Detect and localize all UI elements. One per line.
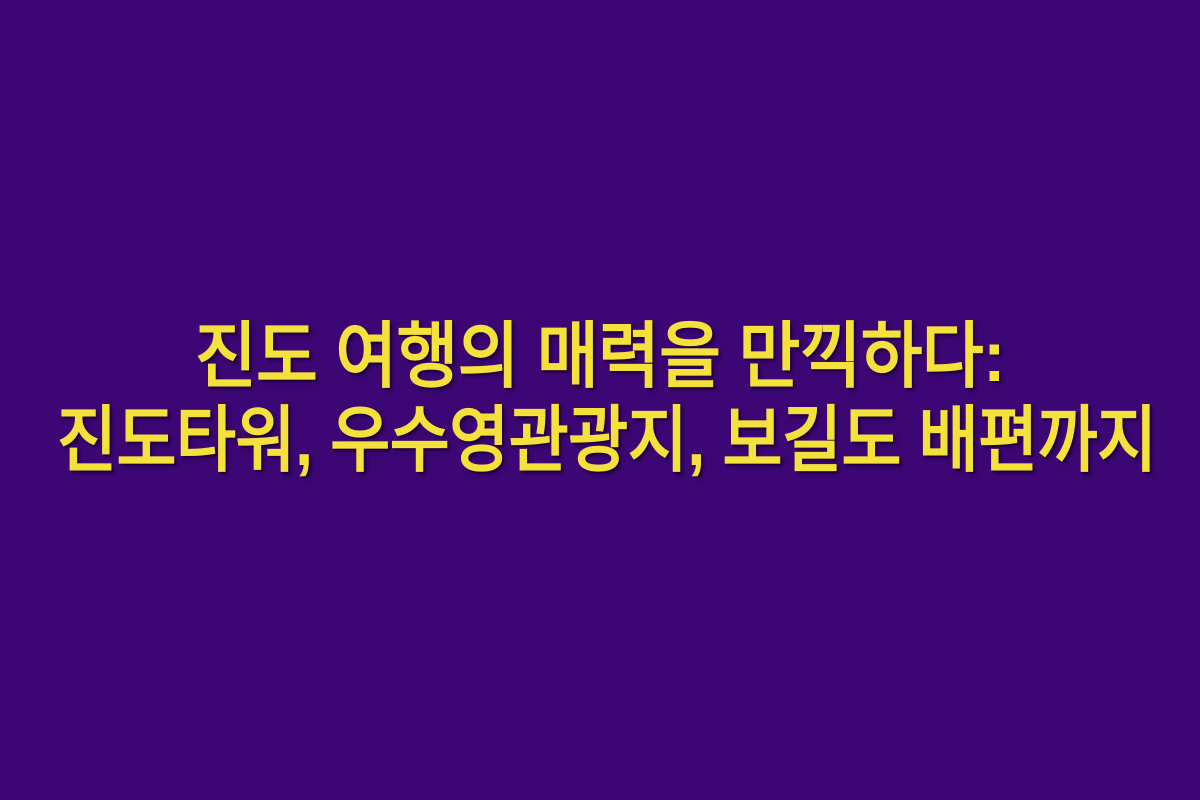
title-line-secondary: 진도타워, 우수영관광지, 보길도 배편까지 <box>57 399 1143 483</box>
title-line-primary: 진도 여행의 매력을 만끽하다: <box>42 315 1158 399</box>
thumbnail-card: 진도 여행의 매력을 만끽하다: 진도타워, 우수영관광지, 보길도 배편까지 <box>0 0 1200 800</box>
title-block: 진도 여행의 매력을 만끽하다: 진도타워, 우수영관광지, 보길도 배편까지 <box>0 315 1200 483</box>
